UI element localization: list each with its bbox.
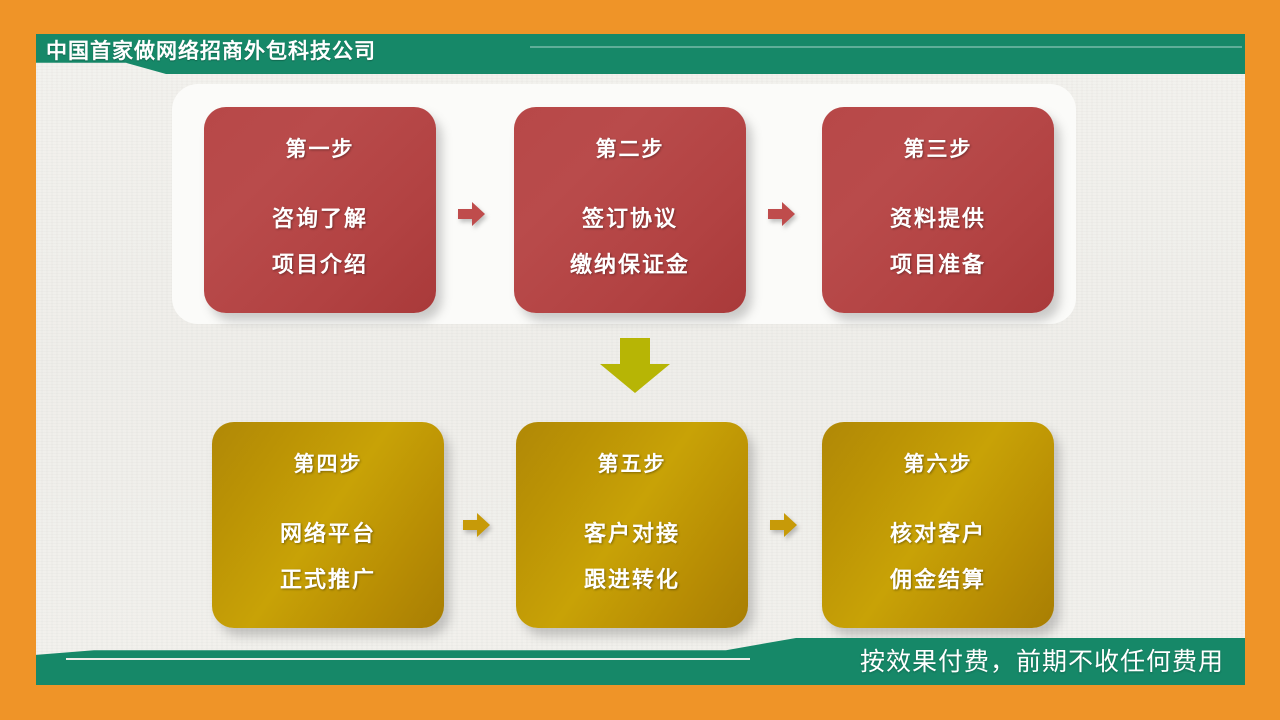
- step-box-5-line1: 客户对接: [516, 516, 748, 548]
- step-box-2-line2: 缴纳保证金: [514, 247, 746, 279]
- step-box-1-title: 第一步: [204, 133, 436, 163]
- footer-tagline: 按效果付费，前期不收任何费用: [860, 645, 1224, 679]
- step-box-1-line1: 咨询了解: [204, 201, 436, 233]
- arrow-right-icon: [461, 510, 491, 540]
- step-box-6-title: 第六步: [822, 448, 1054, 478]
- step-box-3[interactable]: 第三步 资料提供 项目准备: [822, 107, 1054, 313]
- step-box-4-line2: 正式推广: [212, 562, 444, 594]
- step-box-1[interactable]: 第一步 咨询了解 项目介绍: [204, 107, 436, 313]
- step-box-6-line2: 佣金结算: [822, 562, 1054, 594]
- step-box-4[interactable]: 第四步 网络平台 正式推广: [212, 422, 444, 628]
- header-hairline-divider: [530, 46, 1242, 48]
- step-box-6-line1: 核对客户: [822, 516, 1054, 548]
- arrow-right-icon: [768, 510, 798, 540]
- arrow-right-icon: [766, 199, 796, 229]
- step-box-5[interactable]: 第五步 客户对接 跟进转化: [516, 422, 748, 628]
- step-box-3-line1: 资料提供: [822, 201, 1054, 233]
- step-box-4-line1: 网络平台: [212, 516, 444, 548]
- arrow-right-icon: [456, 199, 486, 229]
- step-box-5-line2: 跟进转化: [516, 562, 748, 594]
- step-box-2-title: 第二步: [514, 133, 746, 163]
- step-box-3-title: 第三步: [822, 133, 1054, 163]
- page-title: 中国首家做网络招商外包科技公司: [46, 37, 376, 67]
- step-box-2-line1: 签订协议: [514, 201, 746, 233]
- step-box-6[interactable]: 第六步 核对客户 佣金结算: [822, 422, 1054, 628]
- step-box-4-title: 第四步: [212, 448, 444, 478]
- footer-hairline-divider: [66, 658, 750, 660]
- step-box-1-line2: 项目介绍: [204, 247, 436, 279]
- step-box-3-line2: 项目准备: [822, 247, 1054, 279]
- step-box-2[interactable]: 第二步 签订协议 缴纳保证金: [514, 107, 746, 313]
- slide-canvas: 中国首家做网络招商外包科技公司 第一步 咨询了解 项目介绍 第二步 签订协议 缴…: [0, 0, 1280, 720]
- step-box-5-title: 第五步: [516, 448, 748, 478]
- arrow-down-icon: [598, 338, 672, 394]
